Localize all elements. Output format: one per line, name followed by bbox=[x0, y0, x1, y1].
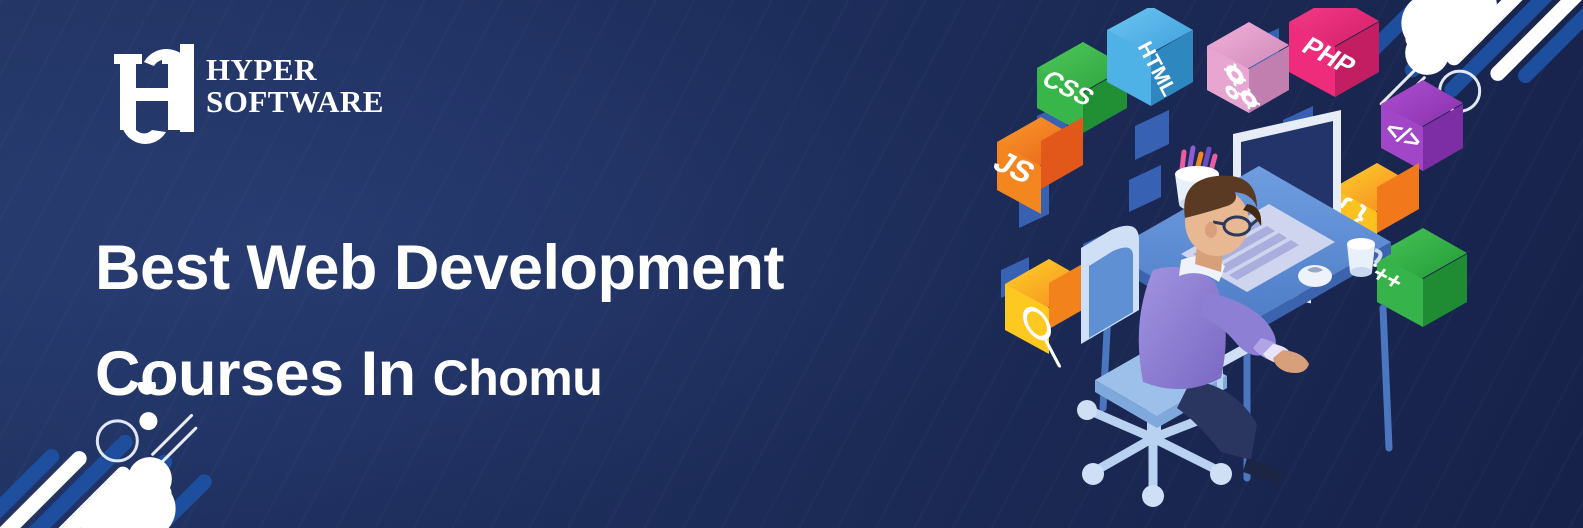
page-title: Best Web Development Courses In Chomu bbox=[95, 236, 784, 407]
mouse bbox=[1298, 265, 1332, 287]
banner-root: HYPER SOFTWARE Best Web Development Cour… bbox=[0, 0, 1583, 528]
headline-line-2-text: Courses In bbox=[95, 339, 416, 409]
logo-line-1: HYPER bbox=[206, 54, 384, 85]
tech-card-code: </> bbox=[1379, 80, 1463, 171]
logo-wordmark: HYPER SOFTWARE bbox=[206, 54, 384, 120]
tech-card-php: PHP bbox=[1289, 8, 1379, 97]
hyper-software-monogram-icon bbox=[112, 22, 208, 152]
tech-card-js: JS bbox=[987, 117, 1083, 214]
headline-city: Chomu bbox=[433, 350, 603, 406]
logo-line-2: SOFTWARE bbox=[206, 85, 384, 120]
headline-line-1: Best Web Development bbox=[95, 236, 784, 300]
isometric-developer-illustration: CSS HTML bbox=[985, 8, 1483, 520]
headline-line-2: Courses In Chomu bbox=[95, 342, 784, 406]
logo[interactable]: HYPER SOFTWARE bbox=[112, 22, 384, 152]
